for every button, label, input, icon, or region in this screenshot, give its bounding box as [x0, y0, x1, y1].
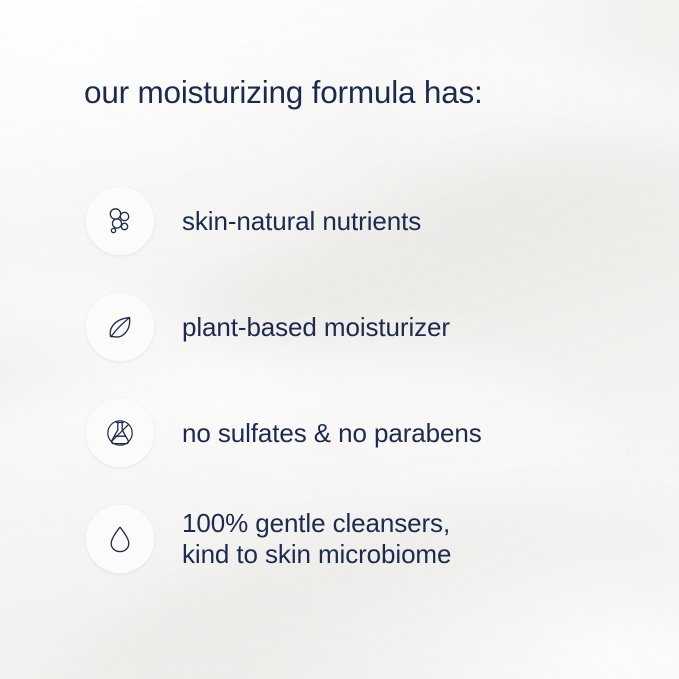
- list-item: plant-based moisturizer: [86, 274, 626, 380]
- water-droplet-icon: [100, 519, 140, 559]
- feature-icon-badge: [86, 505, 154, 573]
- molecule-icon: [100, 201, 140, 241]
- feature-list: skin-natural nutrients plant-based moist…: [86, 168, 626, 592]
- feature-label: 100% gentle cleansers, kind to skin micr…: [182, 508, 451, 570]
- product-feature-poster: our moisturizing formula has:: [0, 0, 679, 679]
- page-title: our moisturizing formula has:: [84, 74, 483, 111]
- feature-label: no sulfates & no parabens: [182, 418, 482, 449]
- no-chemicals-flask-icon: [100, 413, 140, 453]
- feature-icon-badge: [86, 187, 154, 255]
- feature-icon-badge: [86, 293, 154, 361]
- feature-label: plant-based moisturizer: [182, 312, 450, 343]
- feature-label: skin-natural nutrients: [182, 206, 421, 237]
- list-item: 100% gentle cleansers, kind to skin micr…: [86, 486, 626, 592]
- list-item: no sulfates & no parabens: [86, 380, 626, 486]
- list-item: skin-natural nutrients: [86, 168, 626, 274]
- feature-icon-badge: [86, 399, 154, 467]
- leaf-icon: [100, 307, 140, 347]
